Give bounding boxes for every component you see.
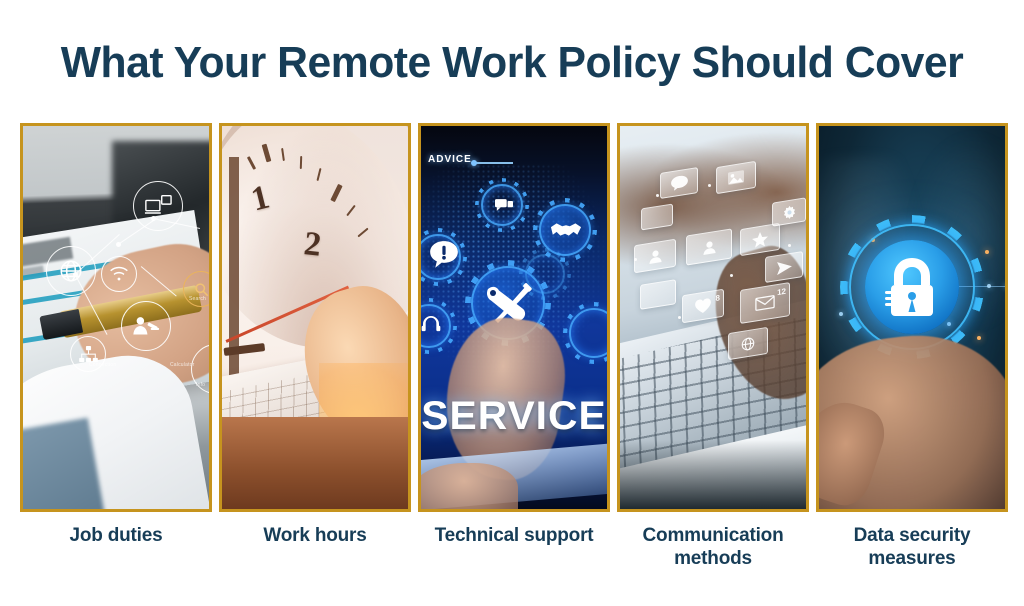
panel-work-hours: 1 2 3 (219, 123, 411, 512)
devices-icon (133, 181, 183, 231)
image-communication-methods: 8 12 (620, 126, 806, 509)
advice-label: ADVICE (428, 154, 472, 165)
globe-icon (46, 246, 96, 296)
chat-bubble-icon (671, 175, 688, 192)
sparkle (656, 194, 659, 197)
panel-data-security-measures (816, 123, 1008, 512)
envelope-icon (755, 294, 775, 311)
desk-surface (222, 417, 408, 509)
sparkle (634, 258, 637, 261)
sparkle (730, 274, 733, 277)
handshake-icon (549, 216, 583, 244)
person-gavel-icon (121, 301, 171, 351)
caption-technical-support: Technical support (418, 524, 610, 570)
connector-node (987, 284, 991, 288)
service-headline: SERVICE (421, 394, 607, 439)
image-technical-support: ADVICE (421, 126, 607, 509)
send-icon (777, 259, 792, 274)
remote-work-policy-infographic: What Your Remote Work Policy Should Cove… (0, 0, 1024, 606)
alert-speech-bubble-icon (427, 238, 461, 272)
panel-job-duties: Connection Calculator Search Info (20, 123, 212, 512)
gear-icon (849, 224, 975, 350)
heart-icon (695, 298, 711, 315)
globe-icon (741, 335, 755, 351)
accent-node (977, 336, 981, 340)
advice-connector-dot (471, 160, 477, 166)
image-icon (728, 170, 744, 186)
clock-marker-bar (229, 157, 238, 402)
caption-communication-methods: Communication methods (617, 524, 809, 570)
network-overlay: Connection Calculator Search Info (23, 126, 209, 509)
caption-row: Job duties Work hours Technical support … (20, 524, 1008, 570)
clock-numeral-2: 2 (302, 225, 323, 265)
gear-icon (783, 204, 796, 219)
accent-node (985, 250, 989, 254)
desk-shadow (620, 440, 806, 509)
image-job-duties: Connection Calculator Search Info (23, 126, 209, 509)
micro-label: Search (189, 296, 206, 302)
card-badge: 12 (777, 287, 786, 297)
micro-label: Calculator (170, 362, 195, 368)
micro-label: Info (196, 382, 205, 388)
glow-disc (865, 240, 959, 334)
sparkle (788, 244, 791, 247)
panel-row: Connection Calculator Search Info (20, 123, 1008, 512)
padlock-icon (881, 254, 943, 320)
connector-node (839, 312, 843, 316)
support-chat-icon (493, 194, 515, 216)
micro-label: Connection (89, 362, 116, 368)
panel-communication-methods: 8 12 (617, 123, 809, 512)
person-icon (702, 238, 717, 255)
sparkle (678, 316, 681, 319)
image-data-security (819, 126, 1005, 509)
network-node-dot (116, 242, 121, 247)
caption-data-security-measures: Data security measures (816, 524, 1008, 570)
card-badge: 8 (716, 293, 720, 303)
sparkle (708, 184, 711, 187)
person-icon (648, 247, 663, 264)
star-icon (752, 231, 768, 249)
supporting-hand (421, 463, 518, 509)
wifi-icon (101, 256, 137, 292)
caption-work-hours: Work hours (219, 524, 411, 570)
gear-icon (569, 308, 607, 358)
caption-job-duties: Job duties (20, 524, 212, 570)
advice-connector-line (473, 162, 513, 164)
page-title: What Your Remote Work Policy Should Cove… (15, 38, 1008, 88)
image-work-hours: 1 2 3 (222, 126, 408, 509)
panel-technical-support: ADVICE (418, 123, 610, 512)
network-edge (141, 266, 177, 297)
headset-icon (421, 312, 443, 336)
